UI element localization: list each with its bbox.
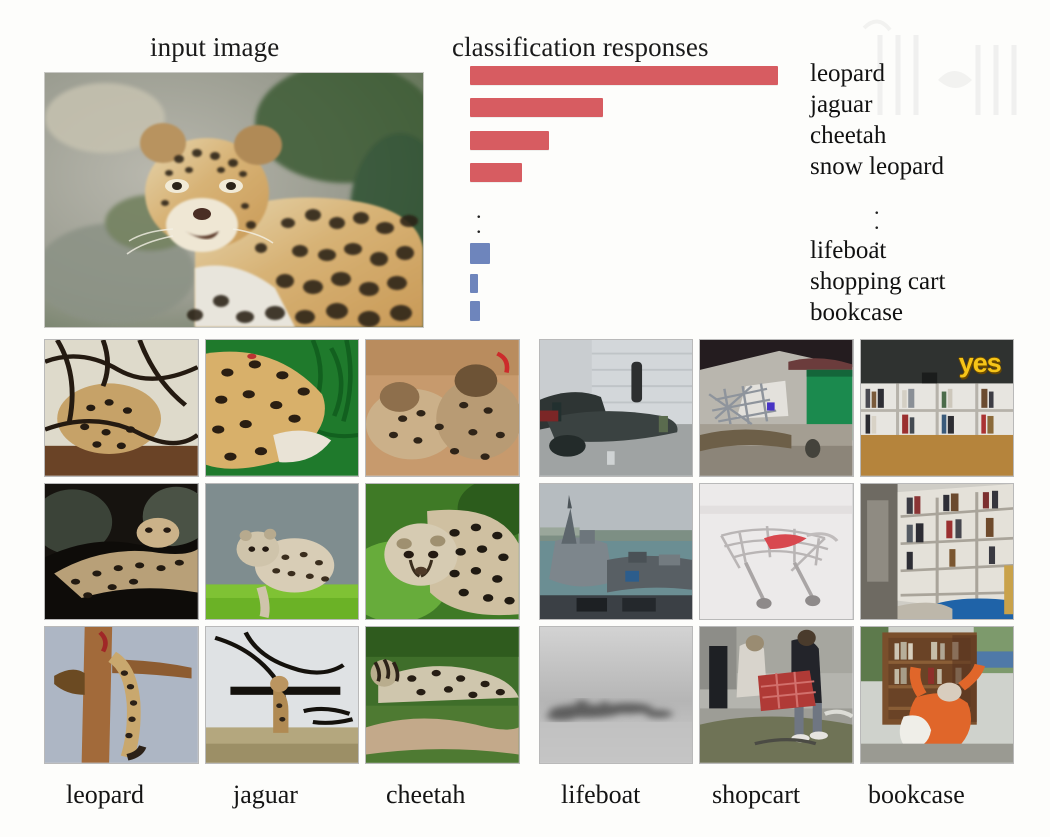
thumbnail-people-red-cart	[699, 626, 853, 764]
page-title-classification-responses: classification responses	[452, 32, 709, 63]
thumbnail-naval-ship-harbour	[539, 483, 693, 621]
footer-label-shopcart: shopcart	[712, 780, 800, 810]
thumbnail-leopard-bare-tree	[205, 626, 360, 764]
thumbnail-shopping-cart-overturned	[699, 483, 853, 621]
bar-label-bookcase: bookcase	[810, 299, 903, 327]
input-image	[44, 72, 424, 328]
thumbnail-grid-objects: yes	[539, 339, 1014, 764]
bar-shopping-cart	[470, 274, 478, 293]
thumbnail-leopard-tree	[44, 339, 199, 477]
footer-label-bookcase: bookcase	[868, 780, 965, 810]
thumbnail-cheetahs-grooming	[365, 339, 520, 477]
thumbnail-boat-monochrome	[539, 626, 693, 764]
figure-root: input image classification responses	[0, 0, 1050, 837]
bar-label-leopard: leopard	[810, 60, 885, 88]
thumbnail-cheetahs-grass	[365, 626, 520, 764]
thumbnail-jaguar-foliage	[205, 339, 360, 477]
page-title-input-image: input image	[150, 32, 279, 63]
bar-snow-leopard	[470, 163, 522, 182]
thumbnail-bookcase-blue-sofa	[860, 483, 1014, 621]
bar-label-snow-leopard: snow leopard	[810, 153, 944, 181]
bar-jaguar	[470, 98, 603, 117]
bar-label-jaguar: jaguar	[810, 91, 872, 119]
footer-label-cheetah: cheetah	[386, 780, 465, 810]
footer-label-leopard: leopard	[66, 780, 144, 810]
bar-bookcase	[470, 301, 480, 321]
bar-leopard	[470, 66, 778, 85]
thumbnail-bookcase-white: yes	[860, 339, 1014, 477]
bar-label-lifeboat: lifeboat	[810, 237, 886, 265]
thumbnail-cheetah-face	[365, 483, 520, 621]
bar-cheetah	[470, 131, 549, 150]
bar-label-cheetah: cheetah	[810, 122, 886, 150]
footer-label-jaguar: jaguar	[233, 780, 298, 810]
thumbnail-cheetah-cub-grass	[205, 483, 360, 621]
thumbnail-leopard-hanging-tree	[44, 626, 199, 764]
yes-badge: yes	[959, 348, 1001, 379]
thumbnail-shopping-carts-dumpster	[699, 339, 853, 477]
thumbnail-person-at-bookcase	[860, 626, 1014, 764]
footer-label-lifeboat: lifeboat	[561, 780, 640, 810]
bar-lifeboat	[470, 243, 490, 264]
thumbnail-lifeboat-wall	[539, 339, 693, 477]
classification-bar-chart: ... leopard jaguar cheetah snow leopard …	[470, 62, 1030, 327]
thumbnail-leopard-on-rock	[44, 483, 199, 621]
bar-label-shopping-cart: shopping cart	[810, 268, 945, 296]
thumbnail-grid-animals	[44, 339, 520, 764]
